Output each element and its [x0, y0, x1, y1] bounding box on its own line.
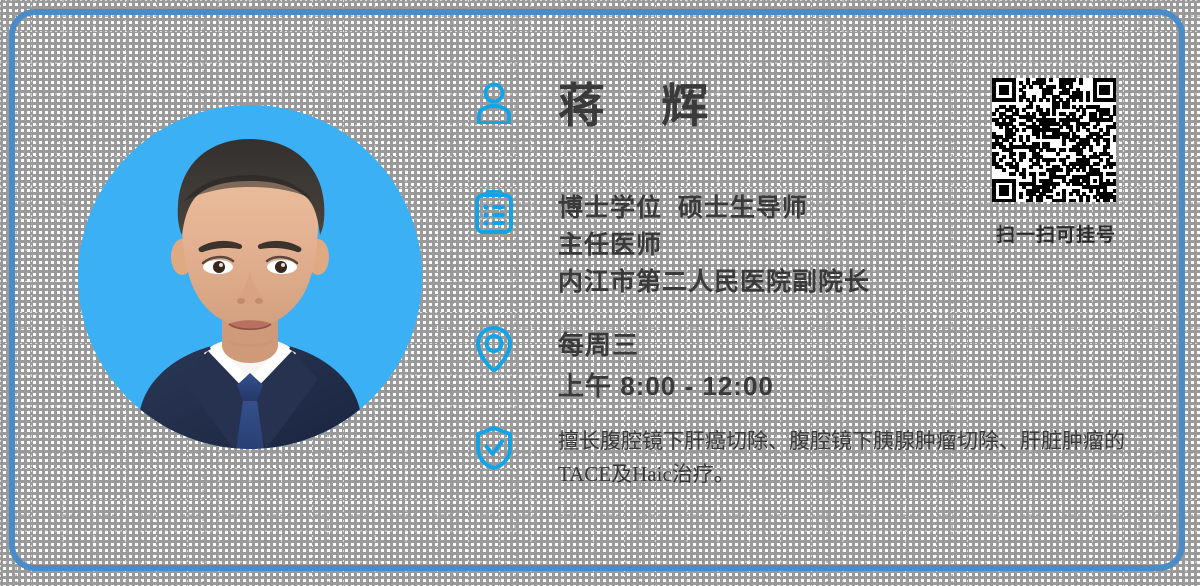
credential-line: 内江市第二人民医院副院长: [558, 264, 870, 301]
portrait-illustration: [78, 105, 422, 449]
shield-check-icon: [474, 425, 520, 471]
info-row-specialty: 擅长腹腔镜下肝癌切除、腹腔镜下胰腺肿瘤切除、肝脏肿瘤的TACE及Haic治疗。: [474, 425, 1174, 491]
credential-line: 主任医师: [558, 227, 870, 264]
clipboard-list-icon: [474, 190, 520, 234]
user-icon: [474, 82, 520, 124]
schedule-text-block: 每周三 上午 8:00 - 12:00: [520, 325, 774, 407]
qr-code-icon[interactable]: [992, 78, 1116, 202]
qr-registration-block: 扫一扫可挂号: [992, 78, 1120, 247]
schedule-time: 上午 8:00 - 12:00: [558, 366, 774, 407]
schedule-day: 每周三: [558, 325, 774, 366]
qr-caption: 扫一扫可挂号: [992, 220, 1120, 247]
credentials-text-block: 博士学位 硕士生导师 主任医师 内江市第二人民医院副院长: [520, 190, 870, 301]
map-pin-icon: [474, 325, 520, 373]
name-text-block: 蒋 辉: [520, 82, 718, 129]
info-row-name: 蒋 辉: [474, 82, 718, 129]
info-row-credentials: 博士学位 硕士生导师 主任医师 内江市第二人民医院副院长: [474, 190, 870, 301]
doctor-profile-card: 蒋 辉 博士学位 硕士生导师 主任医师 内江市第: [0, 0, 1200, 586]
info-row-schedule: 每周三 上午 8:00 - 12:00: [474, 325, 774, 407]
specialty-text-block: 擅长腹腔镜下肝癌切除、腹腔镜下胰腺肿瘤切除、肝脏肿瘤的TACE及Haic治疗。: [520, 425, 1174, 491]
doctor-portrait: [78, 105, 422, 449]
doctor-name: 蒋 辉: [558, 82, 718, 129]
credential-line: 博士学位 硕士生导师: [558, 190, 870, 227]
specialty-description: 擅长腹腔镜下肝癌切除、腹腔镜下胰腺肿瘤切除、肝脏肿瘤的TACE及Haic治疗。: [558, 425, 1174, 491]
